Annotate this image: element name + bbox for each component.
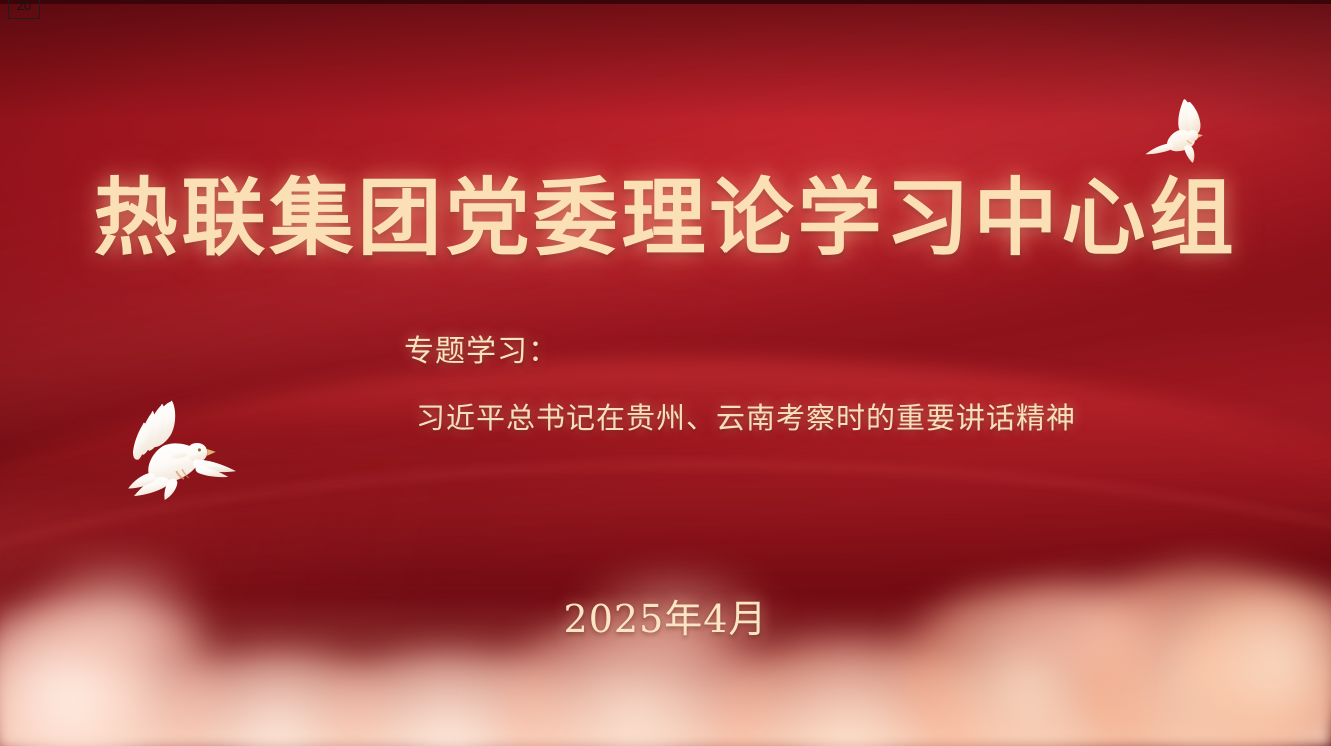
subtitle-label: 专题学习： <box>404 334 1124 370</box>
subtitle-text: 习近平总书记在贵州、云南考察时的重要讲话精神 <box>416 400 1124 436</box>
cloud-bank <box>0 556 1331 746</box>
top-edge-strip <box>0 0 1331 4</box>
page-title: 热联集团党委理论学习中心组 <box>0 176 1331 260</box>
dove-icon <box>1140 96 1220 170</box>
dove-icon <box>126 396 242 500</box>
presentation-slide: 热联集团党委理论学习中心组 专题学习： 习近平总书记在贵州、云南考察时的重要讲话… <box>0 0 1331 746</box>
subtitle-block: 专题学习： 习近平总书记在贵州、云南考察时的重要讲话精神 <box>404 334 1124 436</box>
page-number-badge: 20 <box>8 0 40 19</box>
slide-date: 2025年4月 <box>0 588 1331 643</box>
